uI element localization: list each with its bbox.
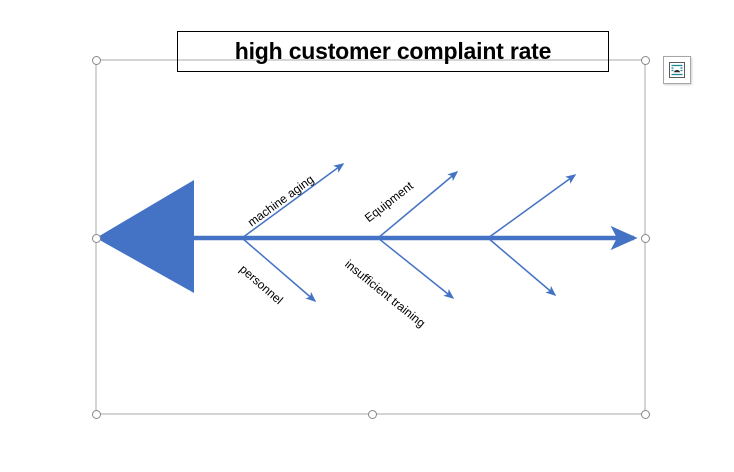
branch-machine-aging[interactable] — [242, 164, 343, 238]
document-canvas: high customer complaint rate machine agi… — [0, 0, 734, 472]
handle-top-left[interactable] — [92, 56, 101, 65]
handle-middle-left[interactable] — [92, 234, 101, 243]
handle-top-right[interactable] — [641, 56, 650, 65]
title-text: high customer complaint rate — [235, 38, 551, 65]
handle-bottom-center[interactable] — [368, 410, 377, 419]
handle-bottom-right[interactable] — [641, 410, 650, 419]
branch-lower-right-unlabeled[interactable] — [488, 238, 555, 295]
fishbone-head[interactable] — [96, 180, 194, 293]
handle-middle-right[interactable] — [641, 234, 650, 243]
title-text-box[interactable]: high customer complaint rate — [177, 31, 609, 72]
layout-options-icon — [667, 60, 687, 80]
branch-upper-right-unlabeled[interactable] — [488, 175, 575, 238]
handle-bottom-left[interactable] — [92, 410, 101, 419]
layout-options-button[interactable] — [663, 56, 691, 84]
